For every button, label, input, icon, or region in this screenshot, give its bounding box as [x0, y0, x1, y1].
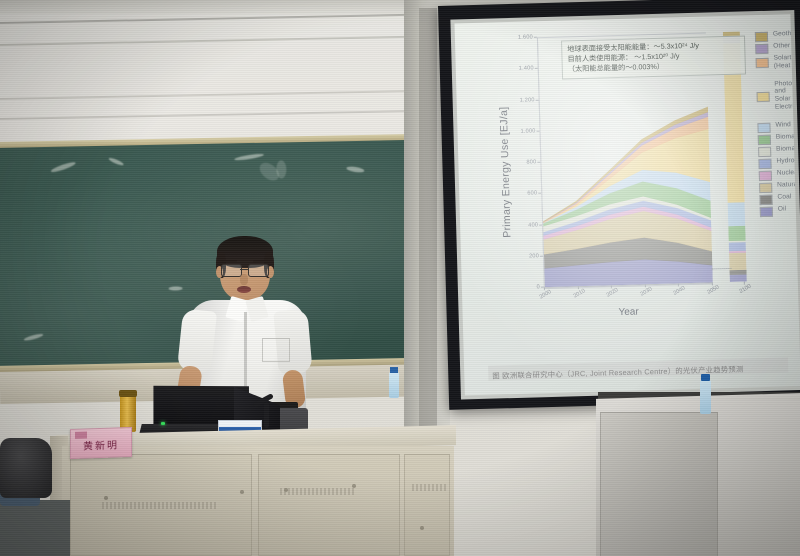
- water-bottle-on-chalk-tray: [389, 372, 399, 398]
- backpack: [0, 438, 52, 498]
- wall-pillar-shadow: [419, 8, 437, 428]
- podium-screw: [104, 496, 108, 500]
- podium-vent-left: [102, 502, 218, 509]
- placard-name-text: 黄新明: [71, 436, 131, 453]
- microphone[interactable]: [264, 402, 269, 428]
- podium-door-middle[interactable]: [258, 454, 400, 556]
- nose: [240, 274, 248, 285]
- mouth-speaking: [237, 286, 251, 293]
- thermos-lid: [119, 390, 137, 397]
- podium-screw: [240, 490, 244, 494]
- shirt-pocket: [262, 338, 290, 362]
- name-placard: 黄新明: [70, 427, 132, 459]
- podium-door-right[interactable]: [404, 454, 450, 556]
- podium-vent-middle: [280, 488, 354, 495]
- podium-screw: [420, 526, 424, 530]
- lecture-photo-scene: Primary Energy Use [EJ/a] 02004006008001…: [0, 0, 800, 556]
- side-table-panel: [600, 412, 718, 556]
- glasses-lens-right: [248, 264, 269, 277]
- podium-screw: [352, 484, 356, 488]
- floor-shadow: [0, 500, 70, 556]
- podium-body: [62, 446, 454, 556]
- water-bottle-cap: [390, 367, 398, 373]
- podium-vent-right: [412, 484, 448, 491]
- laptop-power-led: [161, 422, 165, 425]
- water-bottle-right-cap: [701, 374, 710, 381]
- glasses-bridge: [240, 269, 248, 270]
- water-bottle-right: [700, 380, 711, 414]
- projector-glow: [454, 14, 800, 395]
- glasses-lens-left: [221, 264, 242, 277]
- podium-screw: [284, 488, 288, 492]
- projection-screen-frame: Primary Energy Use [EJ/a] 02004006008001…: [438, 0, 800, 410]
- sleeve-left: [177, 308, 217, 373]
- projection-screen-surface: Primary Energy Use [EJ/a] 02004006008001…: [454, 14, 800, 395]
